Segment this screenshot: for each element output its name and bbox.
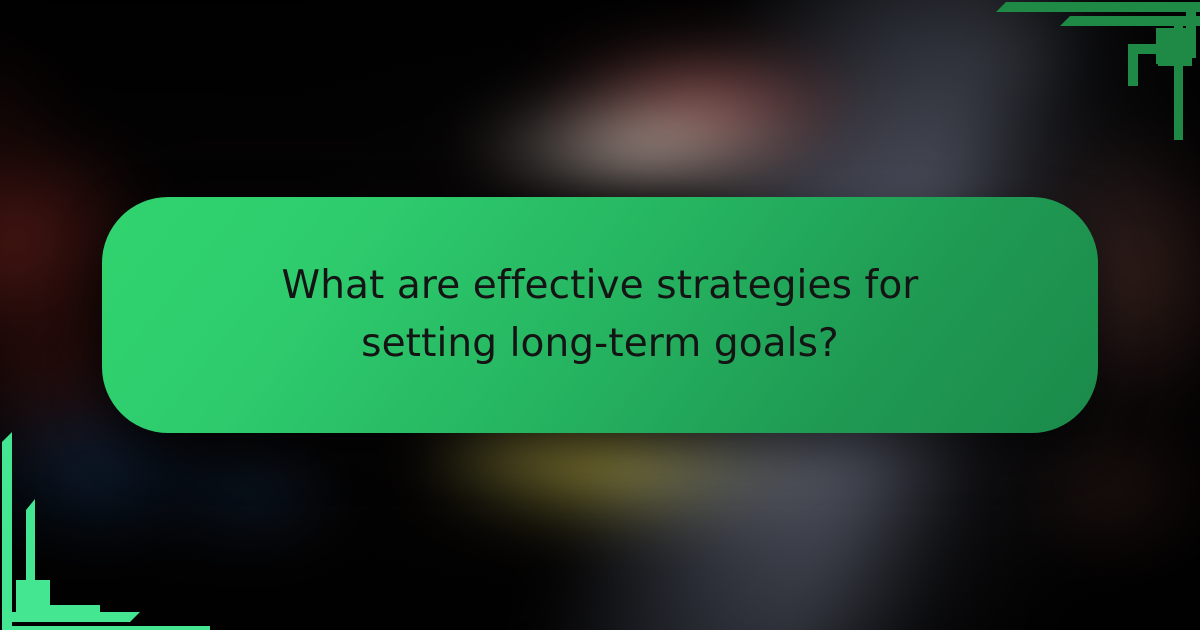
question-text: What are effective strategies for settin… (250, 257, 950, 372)
social-card-canvas: What are effective strategies for settin… (0, 0, 1200, 630)
question-card[interactable]: What are effective strategies for settin… (102, 197, 1098, 433)
